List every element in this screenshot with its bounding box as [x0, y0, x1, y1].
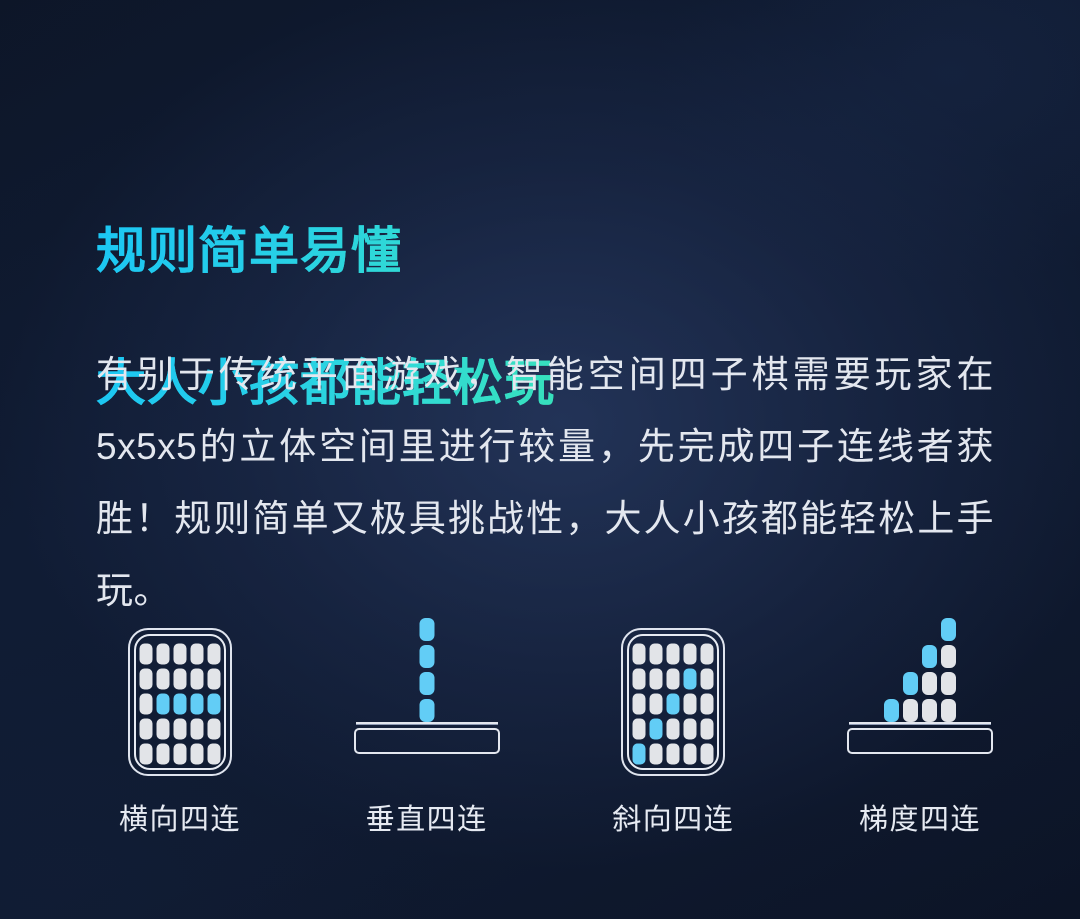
stair-cell: [941, 672, 956, 695]
board-cell: [208, 669, 221, 690]
board-cell: [208, 719, 221, 740]
vertical-stack: [419, 618, 434, 722]
stair-column: [941, 618, 956, 722]
staircase: [884, 618, 956, 722]
feature-item-gradient: 梯度四连: [830, 628, 1010, 835]
board-cell: [667, 644, 680, 665]
board-cell: [208, 644, 221, 665]
board-cell: [208, 744, 221, 765]
stair-column: [884, 699, 899, 722]
board-cell: [650, 669, 663, 690]
board-cell-active: [667, 694, 680, 715]
board-cell: [684, 744, 697, 765]
feature-icon-row: 横向四连 垂直四连: [90, 628, 1010, 835]
feature-label-horizontal: 横向四连: [119, 806, 241, 835]
board-cell: [174, 719, 187, 740]
stack-cell-active: [419, 645, 434, 668]
stair-cell: [922, 672, 937, 695]
board-grid-diagonal: [633, 644, 714, 765]
stack-cell-active: [419, 672, 434, 695]
feature-label-diagonal: 斜向四连: [612, 806, 734, 835]
platform-base: [354, 722, 500, 754]
stair-cell-active: [922, 645, 937, 668]
diagonal-four-icon: [583, 628, 763, 780]
board-cell: [633, 719, 646, 740]
board-cell: [140, 694, 153, 715]
stair-column: [922, 645, 937, 722]
board-cell: [667, 744, 680, 765]
feature-item-vertical: 垂直四连: [337, 628, 517, 835]
board-cell: [701, 719, 714, 740]
feature-label-vertical: 垂直四连: [366, 806, 488, 835]
stair-cell-active: [884, 699, 899, 722]
board-cell: [140, 669, 153, 690]
board-cell-active: [684, 669, 697, 690]
platform-top-plate: [356, 722, 498, 725]
vertical-four-icon: [337, 628, 517, 780]
board-cell: [191, 644, 204, 665]
board-cell: [633, 694, 646, 715]
board-cell: [684, 644, 697, 665]
board-cell: [174, 744, 187, 765]
stack-cell-active: [419, 699, 434, 722]
board-cell: [191, 669, 204, 690]
board-cell: [140, 644, 153, 665]
board-cell: [633, 669, 646, 690]
stair-cell-active: [941, 618, 956, 641]
board-cell-active: [191, 694, 204, 715]
stair-cell: [922, 699, 937, 722]
stair-cell-active: [903, 672, 918, 695]
board-cell: [633, 644, 646, 665]
feature-item-horizontal: 横向四连: [90, 628, 270, 835]
feature-item-diagonal: 斜向四连: [583, 628, 763, 835]
board-cell: [701, 669, 714, 690]
board-cell: [667, 719, 680, 740]
board-cell: [157, 644, 170, 665]
board-cell: [701, 644, 714, 665]
board-cell: [667, 669, 680, 690]
stair-cell: [941, 699, 956, 722]
board-cell: [684, 719, 697, 740]
platform-body: [847, 728, 993, 754]
board-grid-horizontal: [140, 644, 221, 765]
description-paragraph: 有别于传统平面游戏，智能空间四子棋需要玩家在5x5x5的立体空间里进行较量，先完…: [96, 339, 994, 627]
gradient-four-icon: [830, 628, 1010, 780]
board-cell: [157, 744, 170, 765]
board-cell-active: [633, 744, 646, 765]
board-cell: [157, 719, 170, 740]
board-cell: [701, 694, 714, 715]
board-cell: [140, 719, 153, 740]
board-cell: [650, 694, 663, 715]
board-cell: [157, 669, 170, 690]
board-cell-active: [650, 719, 663, 740]
board-cell: [684, 694, 697, 715]
promo-page: 规则简单易懂 大人小孩都能轻松玩 有别于传统平面游戏，智能空间四子棋需要玩家在5…: [0, 0, 1080, 919]
page-title-line-1: 规则简单易懂: [96, 218, 555, 284]
stair-cell: [903, 699, 918, 722]
stair-column: [903, 672, 918, 722]
platform-body: [354, 728, 500, 754]
feature-label-gradient: 梯度四连: [859, 806, 981, 835]
board-cell: [650, 644, 663, 665]
board-cell: [191, 719, 204, 740]
platform-base: [847, 722, 993, 754]
board-cell: [174, 669, 187, 690]
board-cell: [140, 744, 153, 765]
board-cell-active: [174, 694, 187, 715]
board-cell-active: [208, 694, 221, 715]
board-cell: [174, 644, 187, 665]
board-cell-active: [157, 694, 170, 715]
horizontal-four-icon: [90, 628, 270, 780]
board-cell: [701, 744, 714, 765]
board-cell: [191, 744, 204, 765]
stack-cell-active: [419, 618, 434, 641]
stair-cell: [941, 645, 956, 668]
platform-top-plate: [849, 722, 991, 725]
board-cell: [650, 744, 663, 765]
